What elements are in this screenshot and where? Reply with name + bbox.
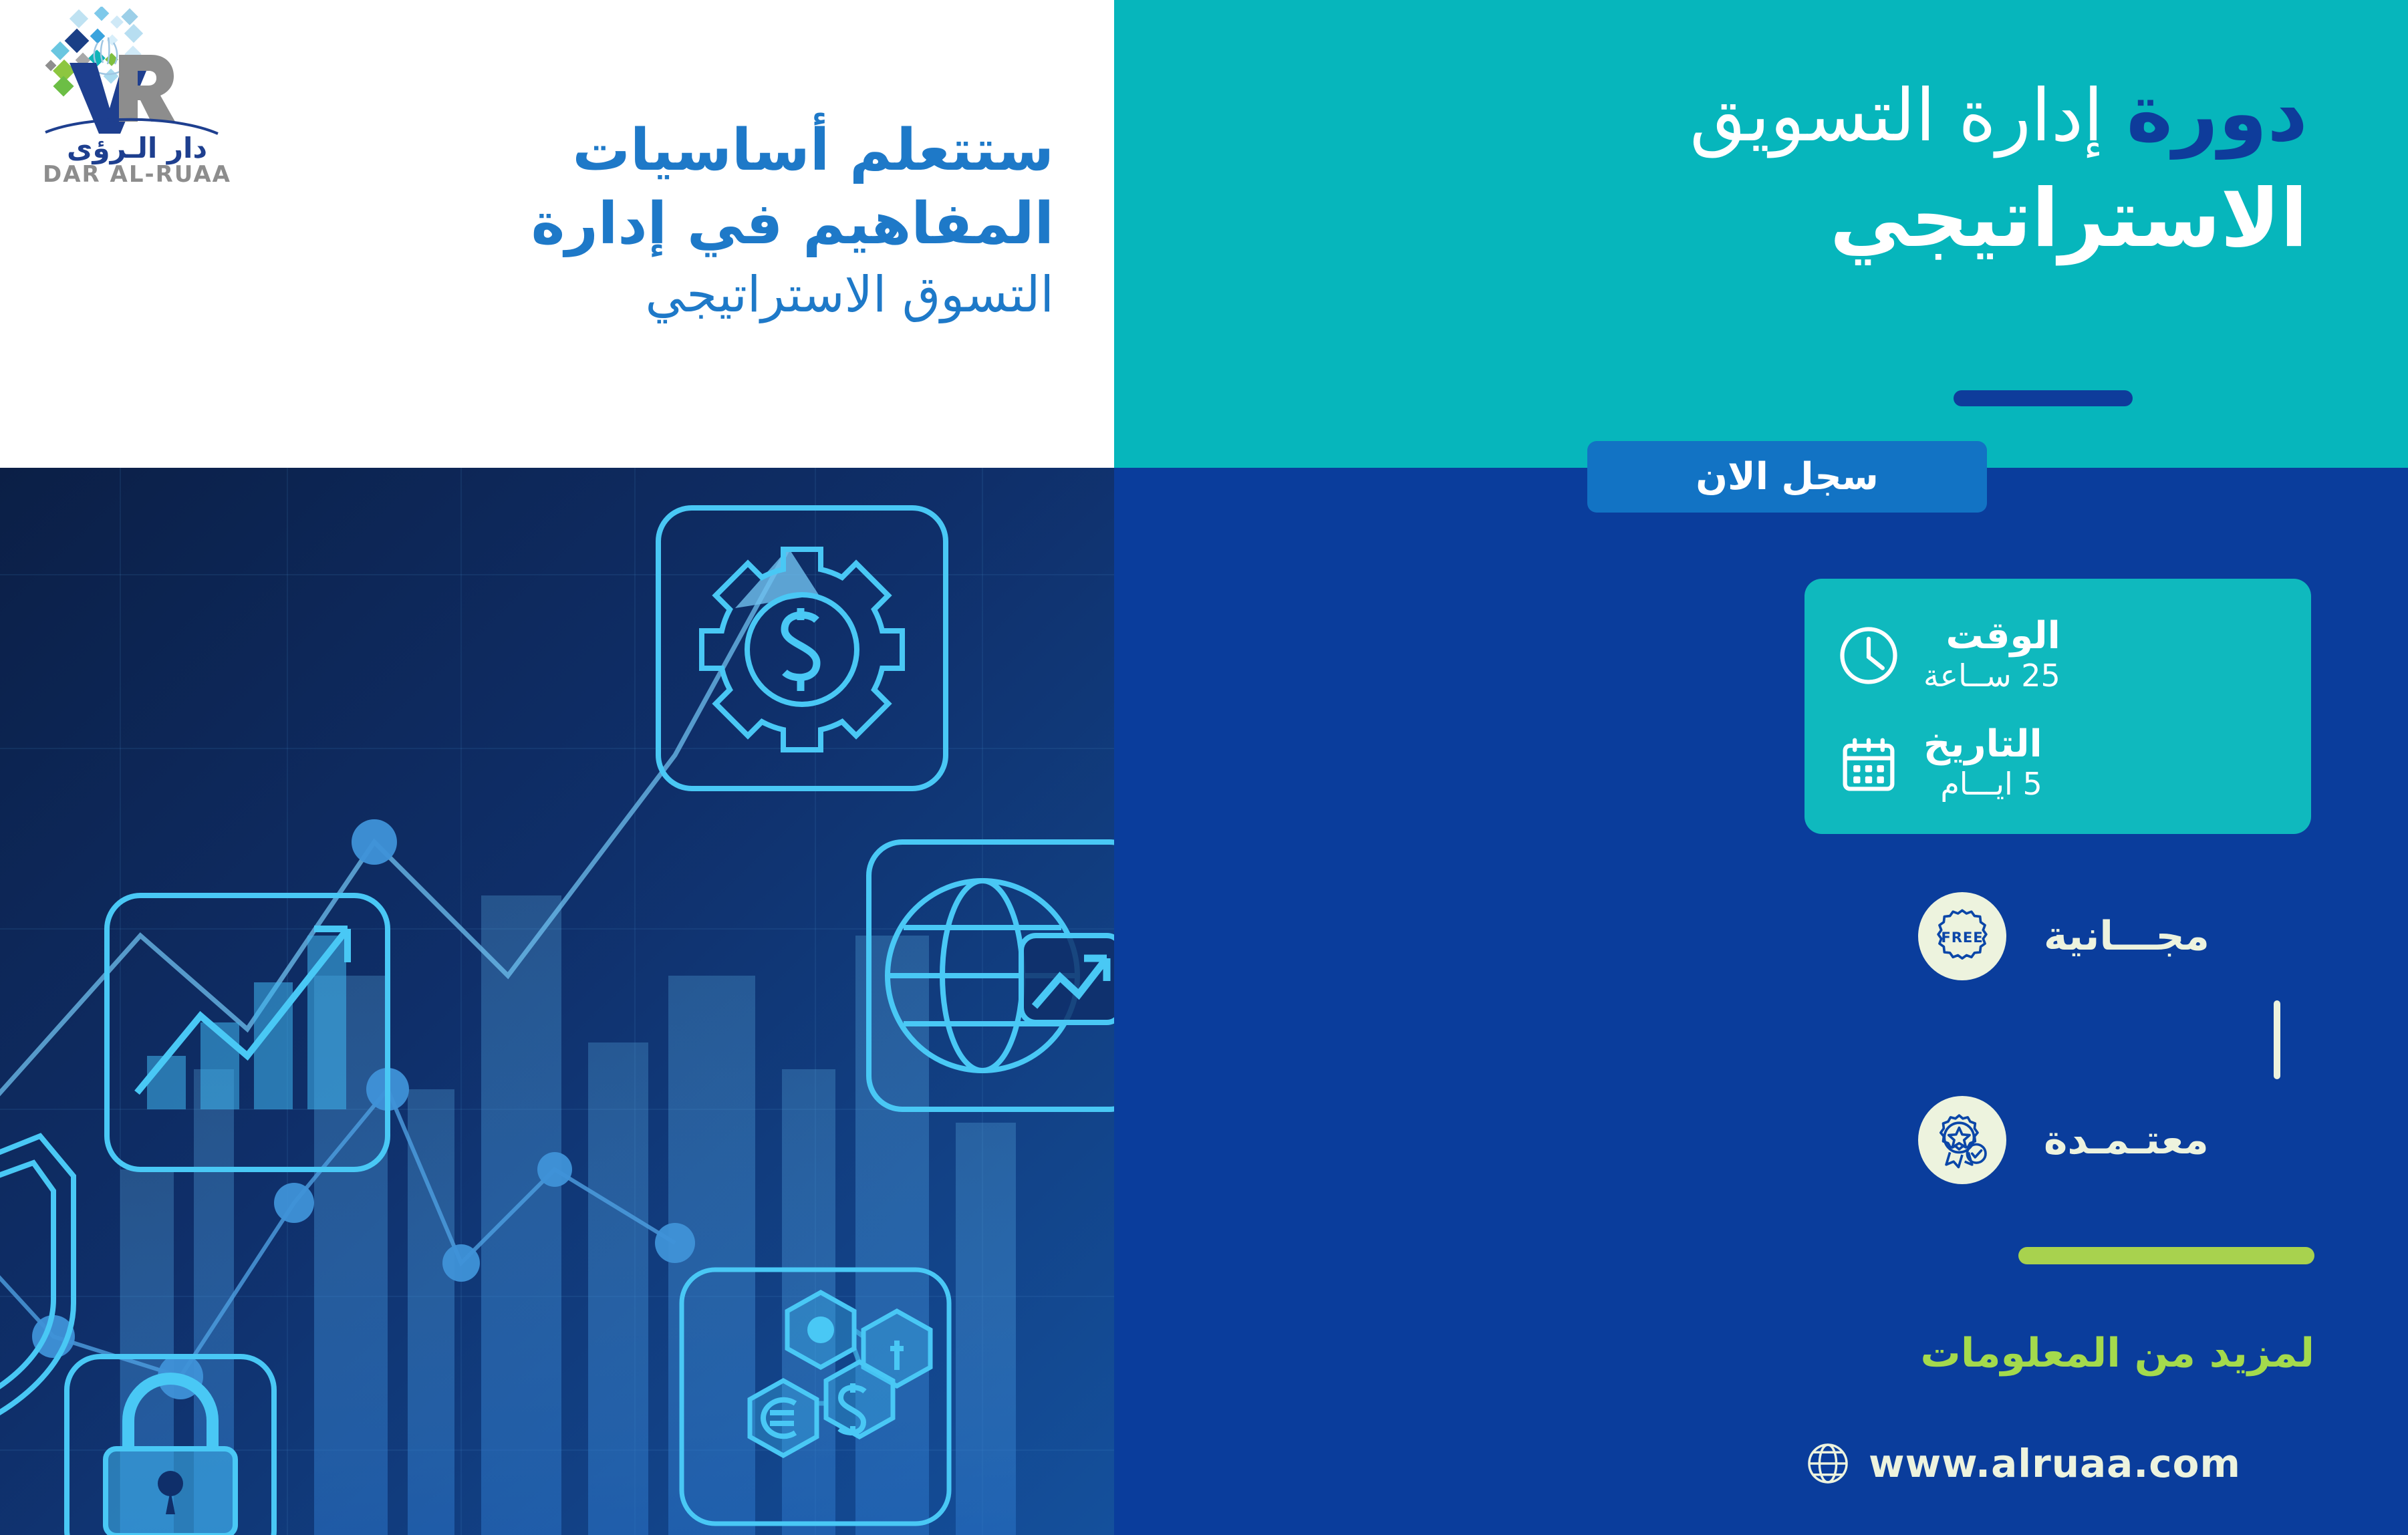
calendar-icon (1834, 729, 1903, 799)
more-info-text: لمزيد من المعلومات (1804, 1330, 2314, 1377)
clock-icon (1834, 621, 1903, 690)
promo-poster: دار الـرؤى DAR AL-RUAA ستتعلم أساسيات ال… (0, 0, 2408, 1535)
brand-logo: دار الـرؤى DAR AL-RUAA (27, 7, 247, 187)
feature-certified-label: معتـمـدة (2044, 1117, 2209, 1163)
certified-medal-icon (1918, 1096, 2006, 1184)
svg-text:DAR AL-RUAA: DAR AL-RUAA (43, 161, 231, 187)
website-row[interactable]: www.alruaa.com (1804, 1440, 2314, 1487)
left-heading: ستتعلم أساسيات المفاهيم في إدارة التسوق … (319, 114, 1054, 327)
left-heading-line-1: ستتعلم أساسيات (319, 114, 1054, 187)
free-badge-icon: FREE (1918, 892, 2006, 980)
course-title-line-1: دورة إدارة التسويق (1172, 67, 2308, 160)
course-info-card: الوقت 25 ســاعة (1804, 579, 2311, 834)
info-value-time: 25 ســاعة (1923, 658, 2060, 694)
feature-free: FREE مجـــانية (1918, 892, 2210, 980)
register-now-label: سجل الان (1696, 455, 1879, 499)
feature-divider (2274, 1000, 2280, 1079)
website-url: www.alruaa.com (1869, 1441, 2241, 1486)
info-row-time: الوقت 25 ســاعة (1834, 617, 2282, 694)
globe-icon (1804, 1440, 1851, 1487)
course-title-rest: إدارة التسويق (1690, 74, 2103, 158)
course-title-accent: دورة (2127, 67, 2308, 159)
svg-text:دار الـرؤى: دار الـرؤى (67, 132, 207, 165)
svg-text:FREE: FREE (1941, 929, 1983, 946)
title-underline-rule (1954, 390, 2133, 406)
info-label-date: التاريخ (1923, 725, 2042, 764)
register-now-button[interactable]: سجل الان (1587, 441, 1987, 513)
left-heading-line-2: المفاهيم في إدارة (319, 187, 1054, 261)
illustration-panel (0, 468, 1114, 1535)
course-title: دورة إدارة التسويق الاستراتيجي (1172, 67, 2308, 267)
course-title-line-2: الاستراتيجي (1172, 172, 2308, 267)
info-label-time: الوقت (1923, 617, 2060, 656)
feature-free-label: مجـــانية (2044, 913, 2210, 960)
top-left-panel: دار الـرؤى DAR AL-RUAA ستتعلم أساسيات ال… (0, 0, 1114, 468)
info-value-date: 5 ايـــام (1923, 766, 2042, 803)
left-heading-line-3: التسوق الاستراتيجي (319, 263, 1054, 327)
info-row-date: التاريخ 5 ايـــام (1834, 725, 2282, 803)
feature-certified: معتـمـدة (1918, 1096, 2209, 1184)
green-divider-rule (2018, 1247, 2314, 1264)
tech-illustration (0, 468, 1114, 1535)
